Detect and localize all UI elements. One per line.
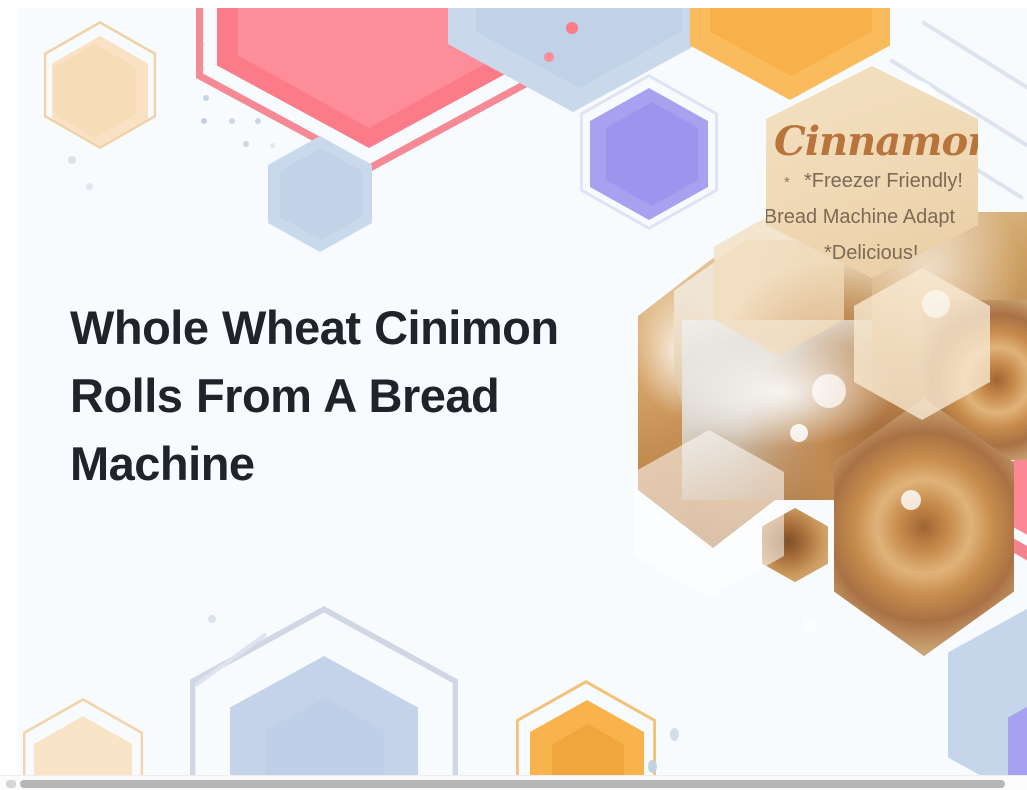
browser-viewport: Cinnamon R * * *Freezer Friendly! *Bread…: [0, 0, 1027, 790]
bokeh-circle-1: [812, 374, 846, 408]
title-block: Whole Wheat Cinimon Rolls From A Bread M…: [70, 294, 610, 498]
dot-grey-14: [208, 615, 216, 623]
asterisk-icon-left: *: [784, 174, 790, 191]
dot-grey-13: [670, 728, 679, 741]
dot-grey-12: [648, 760, 657, 773]
bokeh-circle-4: [804, 618, 818, 632]
dot-salmon-2: [544, 52, 554, 62]
page-title: Whole Wheat Cinimon Rolls From A Bread M…: [70, 294, 610, 498]
bokeh-circle-2: [790, 424, 808, 442]
dot-grey-9: [68, 156, 76, 164]
dot-grey-10: [86, 183, 93, 190]
recipe-label-bullet-2: *Bread Machine Adapt: [766, 206, 955, 229]
horizontal-scrollbar[interactable]: [0, 775, 1027, 790]
scrollbar-left-cap[interactable]: [6, 780, 16, 788]
bokeh-circle-3: [901, 490, 921, 510]
bokeh-circle-6: [922, 290, 950, 318]
hero-canvas: Cinnamon R * * *Freezer Friendly! *Bread…: [18, 8, 1027, 775]
recipe-label-bullet-1: *Freezer Friendly!: [804, 170, 963, 193]
scrollbar-thumb[interactable]: [20, 780, 1005, 788]
recipe-label-script-text: Cinnamon R: [774, 118, 978, 165]
dot-salmon-1: [566, 22, 578, 34]
